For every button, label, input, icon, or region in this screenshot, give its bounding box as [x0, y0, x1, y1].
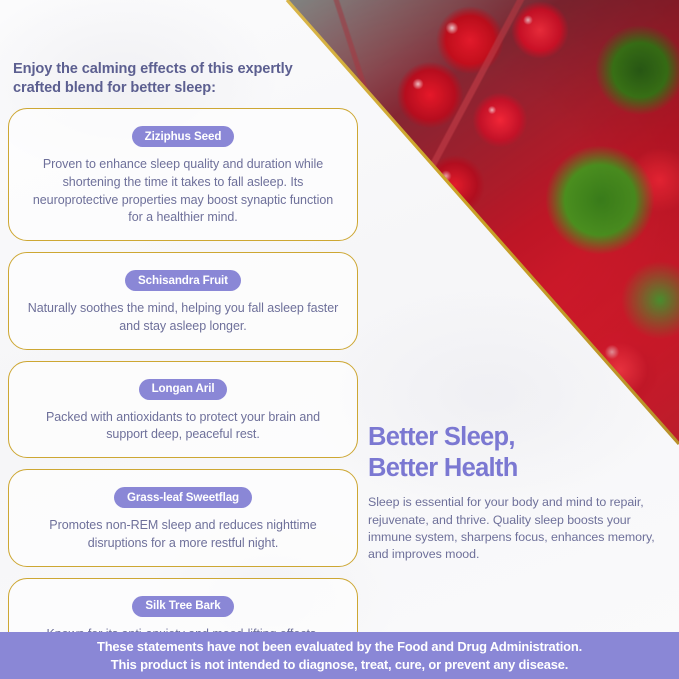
intro-heading: Enjoy the calming effects of this expert…	[13, 60, 313, 98]
promo-title: Better Sleep, Better Health	[368, 422, 668, 484]
promo-body: Sleep is essential for your body and min…	[368, 494, 668, 563]
ingredient-card: Ziziphus Seed Proven to enhance sleep qu…	[8, 108, 358, 241]
ingredient-name-badge: Grass-leaf Sweetflag	[114, 487, 252, 508]
ingredient-name-badge: Ziziphus Seed	[132, 126, 235, 147]
disclaimer-text: These statements have not been evaluated…	[97, 638, 582, 673]
ingredient-name-badge: Schisandra Fruit	[125, 270, 241, 291]
ingredient-description: Packed with antioxidants to protect your…	[23, 409, 343, 445]
infographic-page: Enjoy the calming effects of this expert…	[0, 0, 679, 679]
promo-block: Better Sleep, Better Health Sleep is ess…	[368, 422, 668, 564]
disclaimer-bar: These statements have not been evaluated…	[0, 632, 679, 679]
ingredient-card: Longan Aril Packed with antioxidants to …	[8, 361, 358, 459]
ingredient-name-badge: Longan Aril	[139, 379, 228, 400]
ingredient-card: Schisandra Fruit Naturally soothes the m…	[8, 252, 358, 350]
ingredient-card: Grass-leaf Sweetflag Promotes non-REM sl…	[8, 469, 358, 567]
ingredient-description: Promotes non-REM sleep and reduces night…	[23, 517, 343, 553]
ingredient-card-list: Ziziphus Seed Proven to enhance sleep qu…	[8, 108, 358, 679]
ingredient-description: Naturally soothes the mind, helping you …	[23, 300, 343, 336]
ingredient-description: Proven to enhance sleep quality and dura…	[23, 156, 343, 227]
ingredient-name-badge: Silk Tree Bark	[132, 596, 233, 617]
